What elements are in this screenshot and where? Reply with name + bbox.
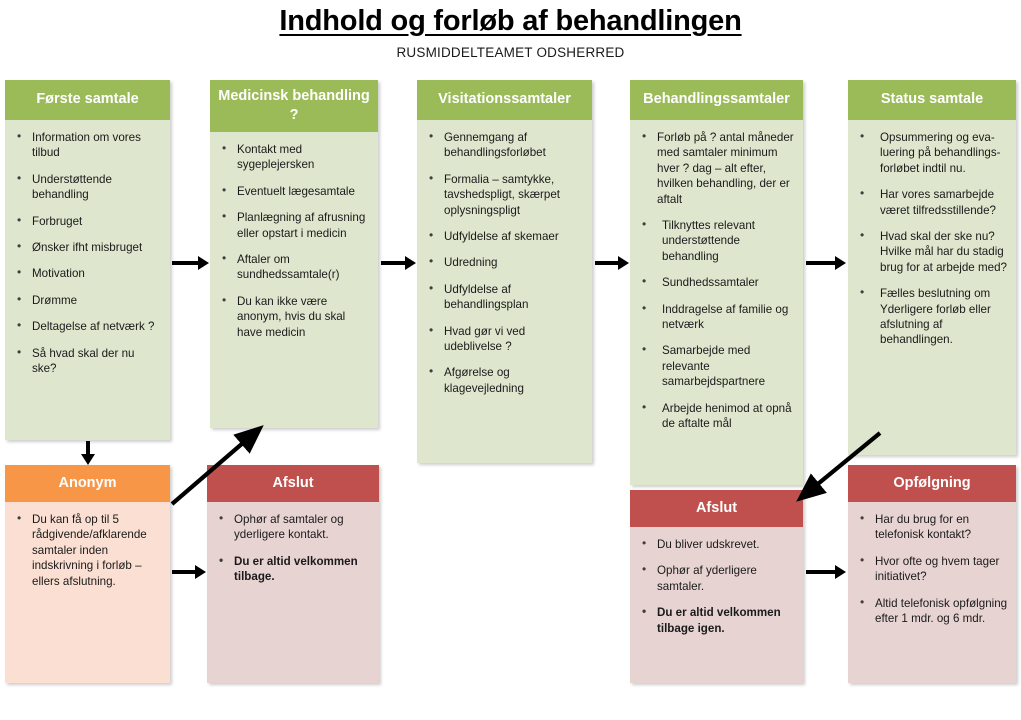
arrow-behandling-to-status: [806, 256, 846, 270]
card-body-foerste-samtale: Information om vores tilbud Understøtten…: [5, 120, 170, 440]
list-item: Eventuelt lægesamtale: [216, 184, 370, 199]
arrow-head-icon: [835, 565, 846, 579]
list-item: Samarbejde med relevante samarbejdspartn…: [636, 343, 795, 389]
card-body-anonym: Du kan få op til 5 rådgivende/afklarende…: [5, 502, 170, 683]
list-item: Du er altid velkommen tilbage igen.: [636, 605, 795, 636]
list-item: Information om vores tilbud: [11, 130, 162, 161]
card-title-medicinsk-behandling: Medicinsk behandling ?: [210, 80, 378, 132]
list-item: Udfyldelse af skemaer: [423, 229, 584, 244]
list-item: Udfyldelse af behandlingsplan: [423, 282, 584, 313]
card-title-status-samtale: Status samtale: [848, 80, 1016, 120]
list-item: Drømme: [11, 293, 162, 308]
card-body-status-samtale: Opsummering og eva-luering på behandling…: [848, 120, 1016, 455]
card-visitationssamtaler[interactable]: Visitationssamtaler Gennemgang af behand…: [417, 80, 592, 463]
list-item: Du er altid velkommen tilbage.: [213, 554, 371, 585]
bullet-list: Du kan få op til 5 rådgivende/afklarende…: [11, 512, 162, 589]
arrow-anonym-to-medicinsk-diagonal: [160, 420, 280, 510]
arrow-head-icon: [81, 454, 95, 465]
list-item: Forbruget: [11, 214, 162, 229]
arrow-foerste-to-anonym: [81, 441, 95, 465]
list-item: Altid telefonisk opfølgning efter 1 mdr.…: [854, 596, 1008, 627]
card-foerste-samtale[interactable]: Første samtale Information om vores tilb…: [5, 80, 170, 440]
list-item: Aftaler om sundhedssamtale(r): [216, 252, 370, 283]
list-item: Planlægning af afrusning eller opstart i…: [216, 210, 370, 241]
arrow-visitation-to-behandling: [595, 256, 629, 270]
card-title-foerste-samtale: Første samtale: [5, 80, 170, 120]
list-item: Inddragelse af familie og netværk: [636, 302, 795, 333]
card-title-visitationssamtaler: Visitationssamtaler: [417, 80, 592, 120]
arrow-head-icon: [618, 256, 629, 270]
list-item: Har du brug for en telefonisk kontakt?: [854, 512, 1008, 543]
list-item: Udredning: [423, 255, 584, 270]
list-item: Ophør af samtaler og yderligere kontakt.: [213, 512, 371, 543]
list-item: Forløb på ? antal måneder med samtaler m…: [636, 130, 795, 207]
arrow-head-icon: [835, 256, 846, 270]
arrow-shaft: [806, 261, 835, 265]
card-status-samtale[interactable]: Status samtale Opsummering og eva-luerin…: [848, 80, 1016, 455]
card-body-visitationssamtaler: Gennemgang af behandlingsforløbet Formal…: [417, 120, 592, 463]
list-item: Understøttende behandling: [11, 172, 162, 203]
bullet-list: Du bliver udskrevet. Ophør af yderligere…: [636, 537, 795, 636]
card-afslut-right[interactable]: Afslut Du bliver udskrevet. Ophør af yde…: [630, 490, 803, 683]
bullet-list: Gennemgang af behandlingsforløbet Formal…: [423, 130, 584, 396]
list-item: Du kan få op til 5 rådgivende/afklarende…: [11, 512, 162, 589]
list-item: Har vores samarbejde været tilfredsstill…: [854, 187, 1008, 218]
page-title: Indhold og forløb af behandlingen: [0, 3, 1021, 39]
bullet-list: Ophør af samtaler og yderligere kontakt.…: [213, 512, 371, 585]
list-item: Så hvad skal der nu ske?: [11, 346, 162, 377]
list-item: Hvad skal der ske nu? Hvilke mål har du …: [854, 229, 1008, 275]
arrow-anonym-to-afslut-left: [172, 565, 206, 579]
arrow-shaft: [172, 570, 195, 574]
list-item: Du bliver udskrevet.: [636, 537, 795, 552]
arrow-head-icon: [405, 256, 416, 270]
list-item: Opsummering og eva-luering på behandling…: [854, 130, 1008, 176]
page-header: Indhold og forløb af behandlingen RUSMID…: [0, 0, 1021, 60]
arrow-shaft: [172, 261, 198, 265]
list-item: Sundhedssamtaler: [636, 275, 795, 290]
bullet-list: Forløb på ? antal måneder med samtaler m…: [636, 130, 795, 432]
list-item: Tilknyttes relevant understøttende behan…: [636, 218, 795, 264]
card-title-behandlingssamtaler: Behandlingssamtaler: [630, 80, 803, 120]
card-body-afslut-right: Du bliver udskrevet. Ophør af yderligere…: [630, 527, 803, 683]
arrow-medicinsk-to-visitation: [381, 256, 416, 270]
list-item: Deltagelse af netværk ?: [11, 319, 162, 334]
page-subtitle: RUSMIDDELTEAMET ODSHERRED: [0, 45, 1021, 60]
list-item: Fælles beslutning om Yderligere forløb e…: [854, 286, 1008, 348]
card-behandlingssamtaler[interactable]: Behandlingssamtaler Forløb på ? antal må…: [630, 80, 803, 485]
arrow-head-icon: [198, 256, 209, 270]
card-body-medicinsk-behandling: Kontakt med sygeplejersken Eventuelt læg…: [210, 132, 378, 428]
bullet-list: Information om vores tilbud Understøtten…: [11, 130, 162, 376]
bullet-list: Kontakt med sygeplejersken Eventuelt læg…: [216, 142, 370, 340]
arrow-status-to-afslut-right-diagonal: [780, 425, 892, 515]
list-item: Hvor ofte og hvem tager initiativet?: [854, 554, 1008, 585]
list-item: Gennemgang af behandlingsforløbet: [423, 130, 584, 161]
card-body-behandlingssamtaler: Forløb på ? antal måneder med samtaler m…: [630, 120, 803, 485]
card-anonym[interactable]: Anonym Du kan få op til 5 rådgivende/afk…: [5, 465, 170, 683]
list-item: Du kan ikke være anonym, hvis du skal ha…: [216, 294, 370, 340]
card-body-opfoelgning: Har du brug for en telefonisk kontakt? H…: [848, 502, 1016, 683]
card-title-afslut-right: Afslut: [630, 490, 803, 527]
arrow-foerste-to-medicinsk: [172, 256, 209, 270]
arrow-head-icon: [195, 565, 206, 579]
list-item: Arbejde henimod at opnå de aftalte mål: [636, 401, 795, 432]
arrow-afslut-right-to-opfoelgning: [806, 565, 846, 579]
arrow-shaft: [595, 261, 618, 265]
list-item: Motivation: [11, 266, 162, 281]
list-item: Ønsker ifht misbruget: [11, 240, 162, 255]
list-item: Formalia – samtykke, tavshedspligt, skær…: [423, 172, 584, 218]
list-item: Ophør af yderligere samtaler.: [636, 563, 795, 594]
arrow-shaft: [806, 570, 835, 574]
arrow-shaft: [381, 261, 405, 265]
card-title-anonym: Anonym: [5, 465, 170, 502]
bullet-list: Har du brug for en telefonisk kontakt? H…: [854, 512, 1008, 626]
list-item: Hvad gør vi ved udeblivelse ?: [423, 324, 584, 355]
list-item: Kontakt med sygeplejersken: [216, 142, 370, 173]
card-medicinsk-behandling[interactable]: Medicinsk behandling ? Kontakt med sygep…: [210, 80, 378, 428]
bullet-list: Opsummering og eva-luering på behandling…: [854, 130, 1008, 348]
list-item: Afgørelse og klagevejledning: [423, 365, 584, 396]
arrow-shaft: [86, 441, 90, 454]
card-body-afslut-left: Ophør af samtaler og yderligere kontakt.…: [207, 502, 379, 683]
